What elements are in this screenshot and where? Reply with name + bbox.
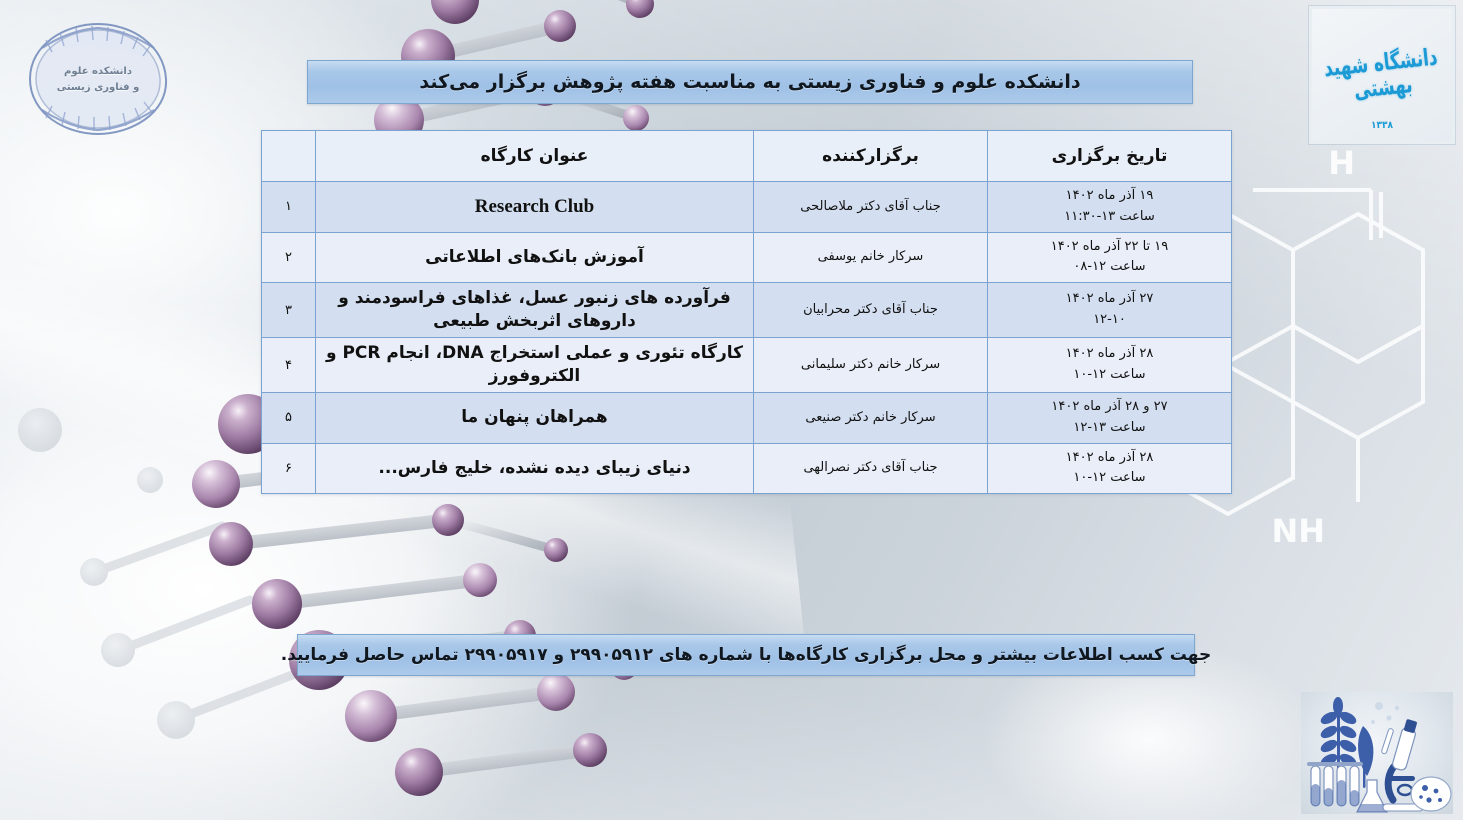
table-header: تاریخ برگزاری برگزارکننده عنوان کارگاه — [262, 131, 1232, 182]
chem-label-h: H — [1328, 144, 1355, 182]
table-header-row: تاریخ برگزاری برگزارکننده عنوان کارگاه — [262, 131, 1232, 182]
cell-icon — [1411, 777, 1451, 811]
bubbles-decoration — [1371, 702, 1399, 724]
footer-banner-text: جهت کسب اطلاعات بیشتر و محل برگزاری کارگ… — [281, 645, 1212, 665]
faculty-seal-text: دانشکده علوم و فناوری زیستی — [18, 18, 178, 140]
cell-date: ۲۸ آذر ماه ۱۴۰۲ساعت ۱۲-۱۰ — [988, 443, 1232, 494]
cell-date: ۲۸ آذر ماه ۱۴۰۲ساعت ۱۲-۱۰ — [988, 338, 1232, 393]
cell-date: ۲۷ و ۲۸ آذر ماه ۱۴۰۲ساعت ۱۳-۱۲ — [988, 392, 1232, 443]
cell-organizer: سرکار خانم دکتر صنیعی — [754, 392, 988, 443]
table-row: ۲۸ آذر ماه ۱۴۰۲ساعت ۱۲-۱۰جناب آقای دکتر … — [262, 443, 1232, 494]
cell-date: ۱۹ آذر ماه ۱۴۰۲ساعت ۱۳-۱۱:۳۰ — [988, 182, 1232, 233]
cell-row-number: ۳ — [262, 283, 316, 338]
test-tubes-icon — [1307, 762, 1363, 806]
date-line-2: ساعت ۱۲-۱۰ — [996, 468, 1223, 489]
cell-organizer: جناب آقای دکتر ملاصالحی — [754, 182, 988, 233]
faculty-seal-line2: و فناوری زیستی — [57, 82, 140, 93]
date-line-2: ۱۲-۱۰ — [996, 310, 1223, 331]
university-logo-calligraphy: دانشگاه شهید بهشتی — [1309, 36, 1455, 115]
cell-date: ۲۷ آذر ماه ۱۴۰۲۱۲-۱۰ — [988, 283, 1232, 338]
column-header-organizer: برگزارکننده — [754, 131, 988, 182]
cell-row-number: ۱ — [262, 182, 316, 233]
cell-workshop-title: فرآورده های زنبور عسل، غذاهای فراسودمند … — [316, 283, 754, 338]
header-banner: دانشکده علوم و فناوری زیستی به مناسبت هف… — [307, 60, 1193, 104]
column-header-date: تاریخ برگزاری — [988, 131, 1232, 182]
header-banner-text: دانشکده علوم و فناوری زیستی به مناسبت هف… — [419, 71, 1080, 94]
date-line-1: ۲۸ آذر ماه ۱۴۰۲ — [996, 448, 1223, 469]
cell-row-number: ۶ — [262, 443, 316, 494]
table-row: ۲۸ آذر ماه ۱۴۰۲ساعت ۱۲-۱۰سرکار خانم دکتر… — [262, 338, 1232, 393]
faculty-seal-line1: دانشکده علوم — [64, 66, 132, 77]
date-line-1: ۱۹ تا ۲۲ آذر ماه ۱۴۰۲ — [996, 237, 1223, 258]
university-logo-year: ۱۳۳۸ — [1312, 121, 1452, 132]
table-row: ۲۷ و ۲۸ آذر ماه ۱۴۰۲ساعت ۱۳-۱۲سرکار خانم… — [262, 392, 1232, 443]
date-line-2: ساعت ۱۳-۱۲ — [996, 418, 1223, 439]
cell-row-number: ۵ — [262, 392, 316, 443]
cell-row-number: ۲ — [262, 232, 316, 283]
cell-organizer: جناب آقای دکتر محرابیان — [754, 283, 988, 338]
table-row: ۱۹ آذر ماه ۱۴۰۲ساعت ۱۳-۱۱:۳۰جناب آقای دک… — [262, 182, 1232, 233]
date-line-1: ۲۸ آذر ماه ۱۴۰۲ — [996, 344, 1223, 365]
poster-canvas: CH 3 H NH — [0, 0, 1463, 820]
faculty-seal: دانشکده علوم و فناوری زیستی — [18, 18, 178, 140]
cell-workshop-title: آموزش بانک‌های اطلاعاتی — [316, 232, 754, 283]
chem-label-nh: NH — [1271, 512, 1325, 550]
schedule-table: تاریخ برگزاری برگزارکننده عنوان کارگاه ۱… — [261, 130, 1232, 494]
cell-workshop-title: Research Club — [316, 182, 754, 233]
footer-banner: جهت کسب اطلاعات بیشتر و محل برگزاری کارگ… — [297, 634, 1195, 676]
cell-workshop-title: کارگاه تئوری و عملی استخراج DNA، انجام P… — [316, 338, 754, 393]
biotech-illustration-logo — [1301, 692, 1453, 814]
table-row: ۱۹ تا ۲۲ آذر ماه ۱۴۰۲ساعت ۱۲-۰۸سرکار خان… — [262, 232, 1232, 283]
schedule-table-wrapper: تاریخ برگزاری برگزارکننده عنوان کارگاه ۱… — [262, 130, 1232, 494]
cell-workshop-title: دنیای زیبای دیده نشده، خلیج فارس... — [316, 443, 754, 494]
cell-organizer: جناب آقای دکتر نصرالهی — [754, 443, 988, 494]
date-line-1: ۲۷ آذر ماه ۱۴۰۲ — [996, 289, 1223, 310]
cell-row-number: ۴ — [262, 338, 316, 393]
table-body: ۱۹ آذر ماه ۱۴۰۲ساعت ۱۳-۱۱:۳۰جناب آقای دک… — [262, 182, 1232, 494]
table-row: ۲۷ آذر ماه ۱۴۰۲۱۲-۱۰جناب آقای دکتر محراب… — [262, 283, 1232, 338]
date-line-1: ۲۷ و ۲۸ آذر ماه ۱۴۰۲ — [996, 397, 1223, 418]
cell-organizer: سرکار خانم یوسفی — [754, 232, 988, 283]
column-header-title: عنوان کارگاه — [316, 131, 754, 182]
cell-organizer: سرکار خانم دکتر سلیمانی — [754, 338, 988, 393]
cell-workshop-title: همراهان پنهان ما — [316, 392, 754, 443]
cell-date: ۱۹ تا ۲۲ آذر ماه ۱۴۰۲ساعت ۱۲-۰۸ — [988, 232, 1232, 283]
university-logo: دانشگاه شهید بهشتی ۱۳۳۸ — [1309, 6, 1455, 144]
date-line-2: ساعت ۱۲-۱۰ — [996, 365, 1223, 386]
column-header-number — [262, 131, 316, 182]
date-line-2: ساعت ۱۳-۱۱:۳۰ — [996, 207, 1223, 228]
date-line-2: ساعت ۱۲-۰۸ — [996, 257, 1223, 278]
date-line-1: ۱۹ آذر ماه ۱۴۰۲ — [996, 186, 1223, 207]
